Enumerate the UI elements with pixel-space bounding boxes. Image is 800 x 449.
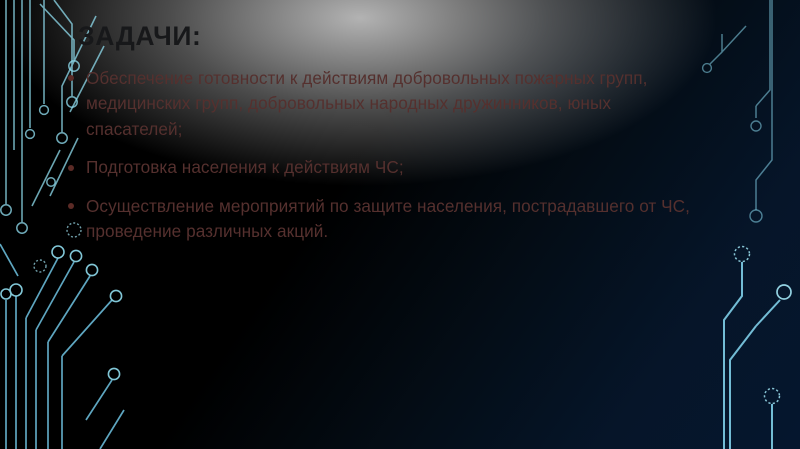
presentation-slide: ЗАДАЧИ: Обеспечение готовности к действи… <box>0 0 800 449</box>
list-item-text: Обеспечение готовности к действиям добро… <box>86 68 647 139</box>
bullet-dot-icon <box>68 75 74 81</box>
list-item-text: Подготовка населения к действиям ЧС; <box>86 157 404 177</box>
bullet-dot-icon <box>68 165 74 171</box>
page-title: ЗАДАЧИ: <box>78 22 706 52</box>
bullet-dot-icon <box>68 203 74 209</box>
list-item-text: Осуществление мероприятий по защите насе… <box>86 196 690 242</box>
bullet-list: Обеспечение готовности к действиям добро… <box>66 66 706 245</box>
list-item: Обеспечение готовности к действиям добро… <box>66 66 706 143</box>
slide-content: ЗАДАЧИ: Обеспечение готовности к действи… <box>66 22 706 245</box>
list-item: Подготовка населения к действиям ЧС; <box>66 155 706 181</box>
list-item: Осуществление мероприятий по защите насе… <box>66 194 706 245</box>
